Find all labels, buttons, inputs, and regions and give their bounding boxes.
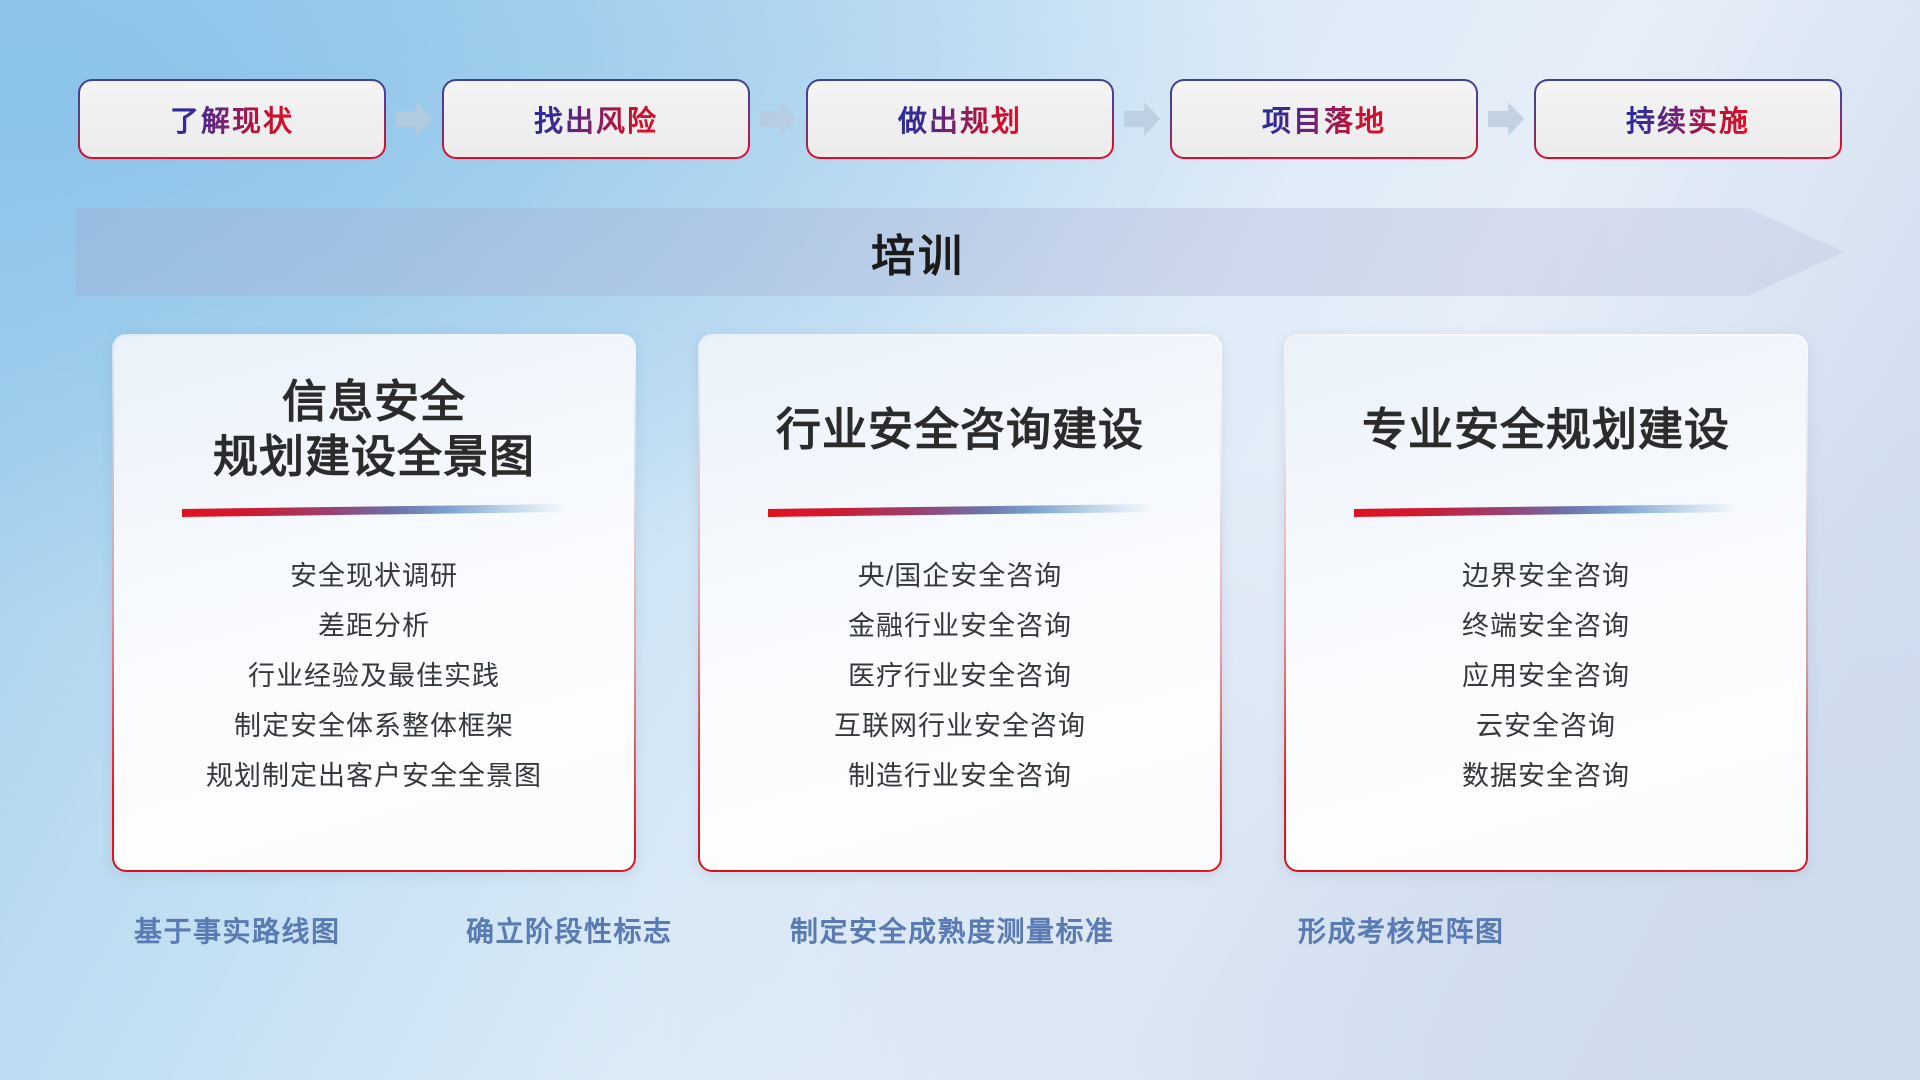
card-list-2: 边界安全咨询 终端安全咨询 应用安全咨询 云安全咨询 数据安全咨询 <box>1462 551 1630 801</box>
list-item: 医疗行业安全咨询 <box>848 651 1072 701</box>
list-item: 制造行业安全咨询 <box>848 751 1072 801</box>
list-item: 行业经验及最佳实践 <box>248 651 500 701</box>
training-banner: 培训 <box>76 208 1844 296</box>
card-1[interactable]: 行业安全咨询建设 央/国企安全咨询 金融行业安全咨询 医疗行业安全咨询 互联网行… <box>698 334 1222 872</box>
card-title-1-line1: 行业安全咨询建设 <box>776 403 1144 458</box>
step-box-3[interactable]: 项目落地 <box>1172 81 1476 157</box>
list-item: 云安全咨询 <box>1476 701 1616 751</box>
list-item: 安全现状调研 <box>290 551 458 601</box>
footer-label-1: 确立阶段性标志 <box>466 910 673 950</box>
footer-label-3: 形成考核矩阵图 <box>1298 910 1505 950</box>
card-0[interactable]: 信息安全 规划建设全景图 安全现状调研 差距分析 行业经验及最佳实践 制定安全体… <box>112 334 636 872</box>
card-list-1: 央/国企安全咨询 金融行业安全咨询 医疗行业安全咨询 互联网行业安全咨询 制造行… <box>834 551 1086 801</box>
card-inner-0: 信息安全 规划建设全景图 安全现状调研 差距分析 行业经验及最佳实践 制定安全体… <box>114 336 634 870</box>
step-label-4: 持续实施 <box>1626 98 1750 140</box>
arrow-right-icon-1 <box>760 102 796 136</box>
list-item: 数据安全咨询 <box>1462 751 1630 801</box>
footer-label-2: 制定安全成熟度测量标准 <box>790 910 1115 950</box>
card-title-2: 专业安全规划建设 <box>1362 370 1730 490</box>
card-divider-2 <box>1354 504 1738 517</box>
arrow-right-icon-0 <box>396 102 432 136</box>
arrow-right-icon-3 <box>1488 102 1524 136</box>
card-title-0-line2: 规划建设全景图 <box>213 430 535 485</box>
card-inner-2: 专业安全规划建设 边界安全咨询 终端安全咨询 应用安全咨询 云安全咨询 数据安全… <box>1286 336 1806 870</box>
list-item: 差距分析 <box>318 601 430 651</box>
list-item: 终端安全咨询 <box>1462 601 1630 651</box>
step-label-2: 做出规划 <box>898 98 1022 140</box>
footer-label-0: 基于事实路线图 <box>134 910 341 950</box>
card-title-0-line1: 信息安全 <box>213 375 535 430</box>
list-item: 互联网行业安全咨询 <box>834 701 1086 751</box>
step-box-2[interactable]: 做出规划 <box>808 81 1112 157</box>
list-item: 边界安全咨询 <box>1462 551 1630 601</box>
step-box-0[interactable]: 了解现状 <box>80 81 384 157</box>
list-item: 规划制定出客户安全全景图 <box>206 751 542 801</box>
card-divider-1 <box>768 504 1152 517</box>
card-inner-1: 行业安全咨询建设 央/国企安全咨询 金融行业安全咨询 医疗行业安全咨询 互联网行… <box>700 336 1220 870</box>
card-list-0: 安全现状调研 差距分析 行业经验及最佳实践 制定安全体系整体框架 规划制定出客户… <box>206 551 542 801</box>
list-item: 金融行业安全咨询 <box>848 601 1072 651</box>
card-title-0: 信息安全 规划建设全景图 <box>213 370 535 490</box>
list-item: 央/国企安全咨询 <box>858 551 1063 601</box>
step-box-1[interactable]: 找出风险 <box>444 81 748 157</box>
step-label-0: 了解现状 <box>170 98 294 140</box>
list-item: 应用安全咨询 <box>1462 651 1630 701</box>
step-label-1: 找出风险 <box>534 98 658 140</box>
card-divider-0 <box>182 504 566 517</box>
arrow-right-icon-2 <box>1124 102 1160 136</box>
card-2[interactable]: 专业安全规划建设 边界安全咨询 终端安全咨询 应用安全咨询 云安全咨询 数据安全… <box>1284 334 1808 872</box>
card-title-2-line1: 专业安全规划建设 <box>1362 403 1730 458</box>
training-banner-title: 培训 <box>871 220 965 284</box>
card-title-1: 行业安全咨询建设 <box>776 370 1144 490</box>
footer-label-row: 基于事实路线图 确立阶段性标志 制定安全成熟度测量标准 形成考核矩阵图 <box>0 910 1920 962</box>
list-item: 制定安全体系整体框架 <box>234 701 514 751</box>
card-group: 信息安全 规划建设全景图 安全现状调研 差距分析 行业经验及最佳实践 制定安全体… <box>0 334 1920 874</box>
process-steps-row: 了解现状 找出风险 做出规划 项目落地 持续实施 <box>0 78 1920 160</box>
step-label-3: 项目落地 <box>1262 98 1386 140</box>
step-box-4[interactable]: 持续实施 <box>1536 81 1840 157</box>
